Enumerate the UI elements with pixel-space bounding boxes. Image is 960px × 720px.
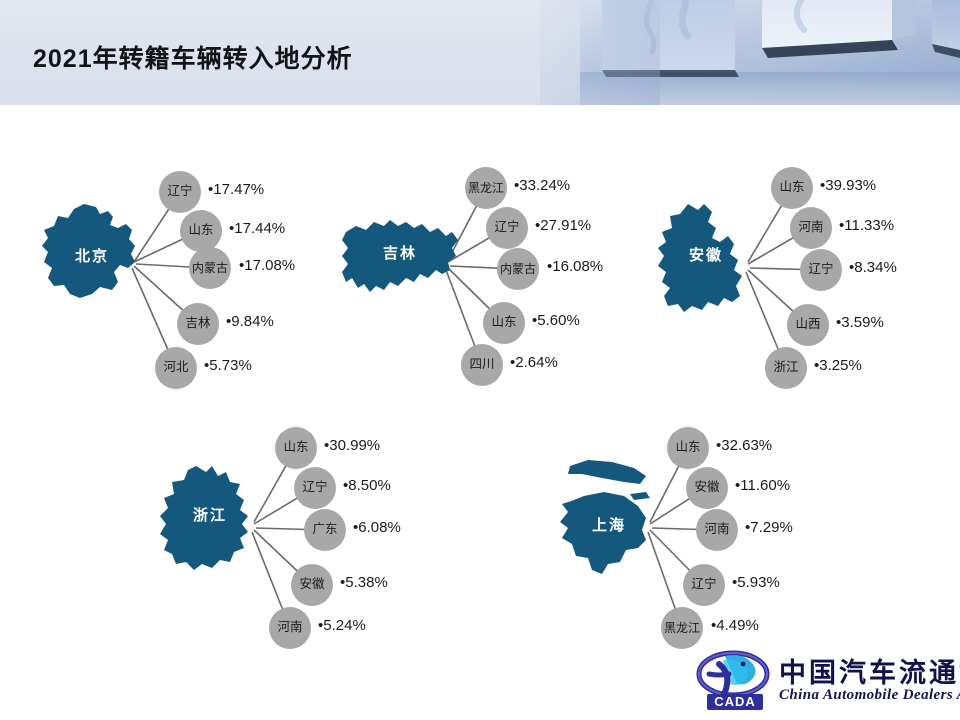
node-label: 辽宁 bbox=[167, 185, 192, 198]
node-shanghai-4[interactable]: 黑龙江 bbox=[661, 607, 703, 649]
node-label: 河南 bbox=[277, 621, 302, 634]
node-zhejiang-3[interactable]: 安徽 bbox=[291, 564, 333, 606]
node-zhejiang-2[interactable]: 广东 bbox=[304, 509, 346, 551]
node-value-beijing-2: •17.08% bbox=[239, 257, 295, 274]
logo-name-en: China Automobile Dealers Association bbox=[779, 687, 960, 704]
node-value-beijing-4: •5.73% bbox=[204, 357, 252, 374]
logo-name-cn: 中国汽车流通协会 bbox=[779, 651, 960, 690]
node-value-zhejiang-1: •8.50% bbox=[343, 477, 391, 494]
node-label: 山东 bbox=[188, 224, 213, 237]
node-label: 辽宁 bbox=[494, 221, 519, 234]
node-label: 辽宁 bbox=[302, 481, 327, 494]
node-beijing-2[interactable]: 内蒙古 bbox=[189, 247, 231, 289]
cada-logo: CADA 中国汽车流通协会 China Automobile Dealers A… bbox=[695, 648, 953, 714]
node-label: 辽宁 bbox=[691, 578, 716, 591]
cada-badge-text: CADA bbox=[714, 694, 756, 709]
node-value-beijing-3: •9.84% bbox=[226, 313, 274, 330]
node-value-jilin-4: •2.64% bbox=[510, 354, 558, 371]
node-value-beijing-1: •17.44% bbox=[229, 220, 285, 237]
node-label: 广东 bbox=[312, 523, 337, 536]
node-value-zhejiang-3: •5.38% bbox=[340, 574, 388, 591]
slide-root: 2021年转籍车辆转入地分析 北京 辽宁 •17.47% 山东 bbox=[0, 0, 960, 720]
node-label: 河南 bbox=[798, 221, 823, 234]
node-label: 辽宁 bbox=[808, 263, 833, 276]
shanghai-map-icon bbox=[554, 452, 664, 587]
node-value-shanghai-4: •4.49% bbox=[711, 617, 759, 634]
cluster-beijing: 北京 辽宁 •17.47% 山东 •17.44% 内蒙古 •17.08% 吉林 … bbox=[28, 140, 338, 420]
zhejiang-map-icon bbox=[156, 462, 264, 581]
node-jilin-1[interactable]: 辽宁 bbox=[486, 207, 528, 249]
cluster-jilin: 吉林 黑龙江 •33.24% 辽宁 •27.91% 内蒙古 •16.08% 山东… bbox=[340, 140, 650, 420]
node-shanghai-3[interactable]: 辽宁 bbox=[683, 564, 725, 606]
header-decoration-image bbox=[540, 0, 960, 105]
cluster-anhui: 安徽 山东 •39.93% 河南 •11.33% 辽宁 •8.34% 山西 •3… bbox=[650, 140, 960, 420]
node-label: 四川 bbox=[469, 358, 494, 371]
node-value-beijing-0: •17.47% bbox=[208, 181, 264, 198]
node-label: 山东 bbox=[675, 441, 700, 454]
node-value-zhejiang-2: •6.08% bbox=[353, 519, 401, 536]
node-anhui-2[interactable]: 辽宁 bbox=[800, 249, 842, 291]
node-label: 山东 bbox=[779, 181, 804, 194]
node-shanghai-2[interactable]: 河南 bbox=[696, 509, 738, 551]
node-label: 安徽 bbox=[694, 481, 719, 494]
node-beijing-1[interactable]: 山东 bbox=[180, 210, 222, 252]
node-label: 山东 bbox=[491, 316, 516, 329]
node-value-jilin-0: •33.24% bbox=[514, 177, 570, 194]
node-anhui-3[interactable]: 山西 bbox=[787, 304, 829, 346]
node-zhejiang-0[interactable]: 山东 bbox=[275, 427, 317, 469]
node-label: 河南 bbox=[704, 523, 729, 536]
node-anhui-0[interactable]: 山东 bbox=[771, 167, 813, 209]
anhui-map-icon bbox=[654, 200, 758, 321]
node-label: 山西 bbox=[795, 318, 820, 331]
node-zhejiang-1[interactable]: 辽宁 bbox=[294, 467, 336, 509]
node-value-anhui-2: •8.34% bbox=[849, 259, 897, 276]
node-label: 安徽 bbox=[299, 578, 324, 591]
jilin-map-icon bbox=[340, 208, 460, 305]
node-label: 山东 bbox=[283, 441, 308, 454]
node-value-zhejiang-0: •30.99% bbox=[324, 437, 380, 454]
node-value-jilin-2: •16.08% bbox=[547, 258, 603, 275]
cada-logo-icon: CADA bbox=[695, 650, 773, 712]
node-value-shanghai-3: •5.93% bbox=[732, 574, 780, 591]
cluster-shanghai: 上海 山东 •32.63% 安徽 •11.60% 河南 •7.29% 辽宁 •5… bbox=[540, 400, 850, 680]
node-beijing-4[interactable]: 河北 bbox=[155, 347, 197, 389]
node-value-anhui-4: •3.25% bbox=[814, 357, 862, 374]
node-jilin-3[interactable]: 山东 bbox=[483, 302, 525, 344]
node-label: 内蒙古 bbox=[192, 262, 228, 274]
node-value-jilin-1: •27.91% bbox=[535, 217, 591, 234]
cluster-zhejiang: 浙江 山东 •30.99% 辽宁 •8.50% 广东 •6.08% 安徽 •5.… bbox=[150, 400, 460, 680]
node-jilin-0[interactable]: 黑龙江 bbox=[465, 167, 507, 209]
node-beijing-0[interactable]: 辽宁 bbox=[159, 171, 201, 213]
node-value-shanghai-2: •7.29% bbox=[745, 519, 793, 536]
node-label: 河北 bbox=[163, 361, 188, 374]
node-value-anhui-0: •39.93% bbox=[820, 177, 876, 194]
node-beijing-3[interactable]: 吉林 bbox=[177, 303, 219, 345]
node-label: 吉林 bbox=[185, 317, 210, 330]
node-label: 黑龙江 bbox=[664, 622, 700, 634]
beijing-map-icon bbox=[34, 202, 150, 311]
node-value-anhui-1: •11.33% bbox=[839, 217, 894, 234]
node-anhui-1[interactable]: 河南 bbox=[790, 207, 832, 249]
node-jilin-2[interactable]: 内蒙古 bbox=[497, 248, 539, 290]
page-title: 2021年转籍车辆转入地分析 bbox=[33, 39, 353, 75]
node-anhui-4[interactable]: 浙江 bbox=[765, 347, 807, 389]
node-value-shanghai-0: •32.63% bbox=[716, 437, 772, 454]
node-label: 内蒙古 bbox=[500, 263, 536, 275]
node-shanghai-0[interactable]: 山东 bbox=[667, 427, 709, 469]
slide-header: 2021年转籍车辆转入地分析 bbox=[0, 0, 960, 105]
node-shanghai-1[interactable]: 安徽 bbox=[686, 467, 728, 509]
node-value-shanghai-1: •11.60% bbox=[735, 477, 790, 494]
node-zhejiang-4[interactable]: 河南 bbox=[269, 607, 311, 649]
node-value-zhejiang-4: •5.24% bbox=[318, 617, 366, 634]
node-value-jilin-3: •5.60% bbox=[532, 312, 580, 329]
node-label: 黑龙江 bbox=[468, 182, 504, 194]
node-value-anhui-3: •3.59% bbox=[836, 314, 884, 331]
node-label: 浙江 bbox=[773, 361, 798, 374]
node-jilin-4[interactable]: 四川 bbox=[461, 344, 503, 386]
